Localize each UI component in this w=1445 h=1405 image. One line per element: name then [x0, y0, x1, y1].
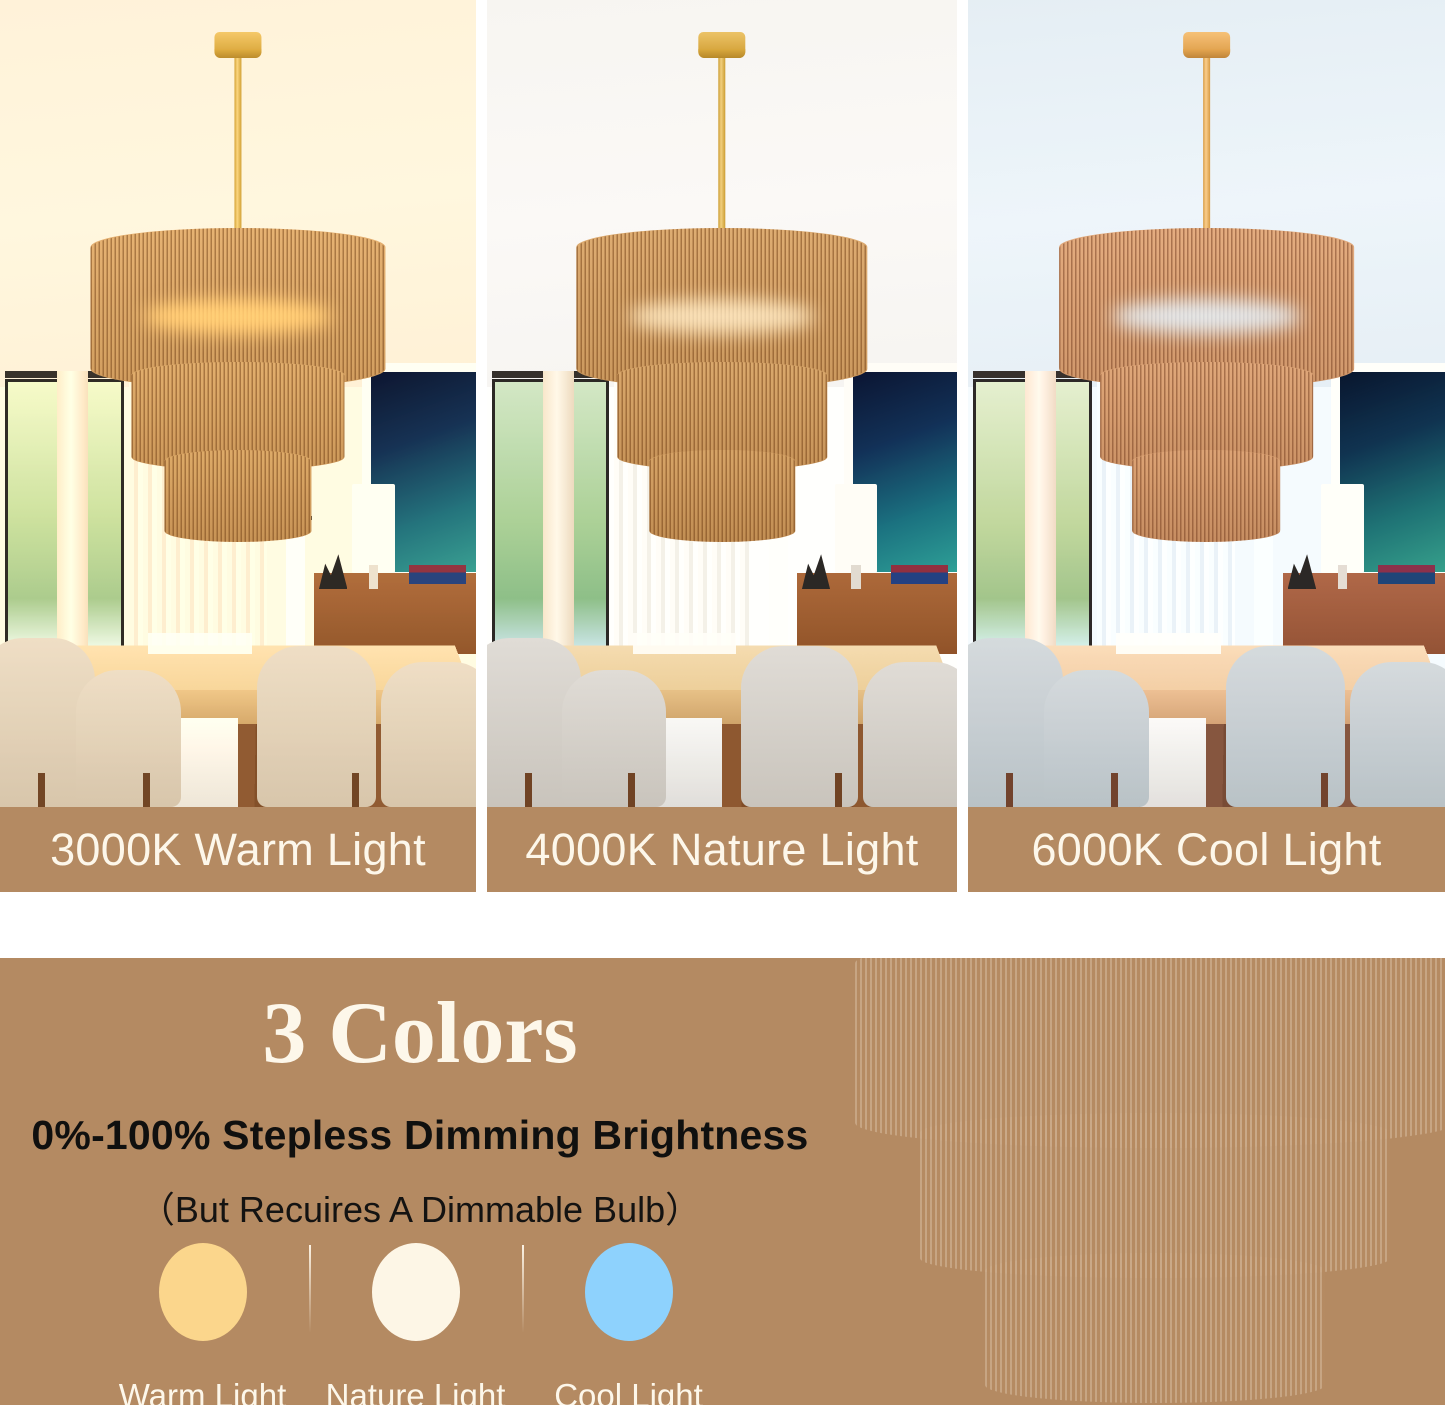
stacked-books: [891, 565, 947, 584]
promo-subheading: 0%-100% Stepless Dimming Brightness: [0, 1112, 840, 1159]
panel-caption-nature: 4000K Nature Light: [487, 807, 957, 892]
rattan-chandelier: [576, 32, 867, 542]
swatch-label-nature: Nature Light: [326, 1377, 506, 1405]
swatch-warm-light[interactable]: Warm Light: [96, 1243, 309, 1405]
chair-leg: [1006, 773, 1013, 807]
promo-text-block: 3 Colors 0%-100% Stepless Dimming Bright…: [0, 958, 840, 1233]
room-photo-nature: [487, 0, 957, 807]
bulb-glow: [629, 299, 815, 334]
watermark-tier-bottom: [985, 1253, 1325, 1403]
chair: [863, 662, 957, 807]
cool-light-dot-icon: [585, 1243, 673, 1341]
swatch-label-cool: Cool Light: [554, 1377, 703, 1405]
table-inlay: [148, 633, 253, 654]
marble-pedestal: [171, 718, 238, 807]
promo-note: （But Recuires A Dimmable Bulb）: [0, 1181, 840, 1233]
bulb-glow: [144, 299, 333, 334]
comparison-panel-warm: 3000K Warm Light: [0, 0, 476, 892]
chandelier-tier-bottom: [164, 450, 312, 542]
chair-leg: [835, 773, 842, 807]
table-inlay: [1116, 633, 1221, 654]
chair-leg: [1111, 773, 1118, 807]
rattan-weave: [1133, 450, 1281, 542]
stacked-books: [409, 565, 466, 584]
table-lamp-base: [1338, 565, 1348, 589]
brass-downrod: [1203, 58, 1210, 228]
bulb-glow: [1112, 299, 1301, 334]
brass-canopy: [699, 32, 746, 58]
promo-heading: 3 Colors: [0, 990, 840, 1078]
chandelier-tier-bottom: [1133, 450, 1281, 542]
marble-pedestal: [656, 718, 722, 807]
chair-leg: [38, 773, 45, 807]
swatch-cool-light[interactable]: Cool Light: [522, 1243, 735, 1405]
table-inlay: [633, 633, 736, 654]
panel-caption-warm: 3000K Warm Light: [0, 807, 476, 892]
three-colors-promo-panel: 3 Colors 0%-100% Stepless Dimming Bright…: [0, 958, 1445, 1405]
table-lamp-base: [369, 565, 379, 589]
color-temperature-comparison: 3000K Warm Light: [0, 0, 1445, 892]
chair-leg: [525, 773, 532, 807]
color-swatch-row: Warm Light Nature Light Cool Light: [96, 1243, 776, 1405]
stacked-books: [1378, 565, 1435, 584]
brass-downrod: [234, 58, 241, 228]
chair-leg: [352, 773, 359, 807]
chandelier-tier-bottom: [649, 450, 795, 542]
chair: [1044, 670, 1149, 807]
chair: [76, 670, 181, 807]
table-lamp-base: [851, 565, 860, 589]
panel-caption-cool: 6000K Cool Light: [968, 807, 1445, 892]
swatch-nature-light[interactable]: Nature Light: [309, 1243, 522, 1405]
marble-pedestal: [1140, 718, 1207, 807]
comparison-panel-nature: 4000K Nature Light: [487, 0, 957, 892]
room-photo-warm: [0, 0, 476, 807]
nature-light-dot-icon: [372, 1243, 460, 1341]
chair: [1350, 662, 1445, 807]
rattan-chandelier: [90, 32, 385, 542]
chair-leg: [628, 773, 635, 807]
comparison-panel-cool: 6000K Cool Light: [968, 0, 1445, 892]
chandelier-watermark-icon: [825, 958, 1445, 1405]
rattan-weave: [164, 450, 312, 542]
room-photo-cool: [968, 0, 1445, 807]
brass-canopy: [214, 32, 261, 58]
rattan-weave: [649, 450, 795, 542]
chair-leg: [1321, 773, 1328, 807]
warm-light-dot-icon: [159, 1243, 247, 1341]
brass-canopy: [1183, 32, 1230, 58]
chair: [381, 662, 476, 807]
brass-downrod: [718, 58, 725, 228]
rattan-chandelier: [1059, 32, 1355, 542]
chair: [562, 670, 665, 807]
swatch-label-warm: Warm Light: [119, 1377, 286, 1405]
chair-leg: [143, 773, 150, 807]
